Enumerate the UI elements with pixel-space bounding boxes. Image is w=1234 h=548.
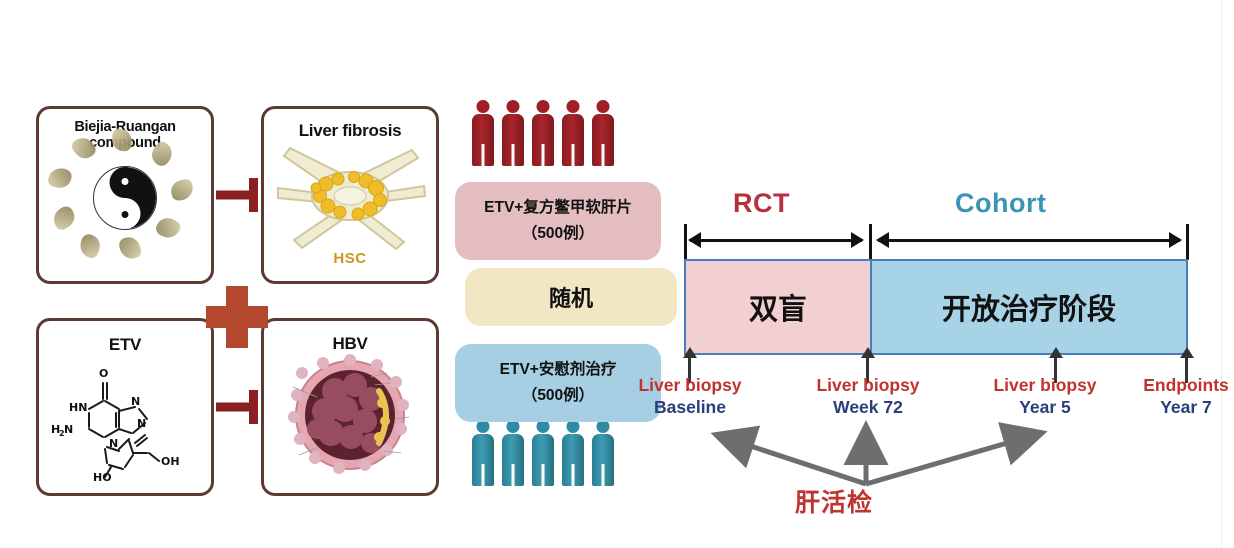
cohort-span-arrow-left — [876, 232, 889, 248]
person-icon — [502, 100, 524, 166]
panel-liver-fibrosis: Liver fibrosis HSC — [261, 106, 439, 284]
person-icon — [592, 100, 614, 166]
person-icon — [472, 420, 494, 486]
randomization-box: 随机 — [465, 268, 677, 326]
timeline-tick-mid — [869, 224, 872, 260]
timepoint-time: Year 7 — [1096, 396, 1234, 418]
cohort-span-arrow-right — [1169, 232, 1182, 248]
liver-biopsy-fan-arrows — [690, 420, 1110, 500]
svg-text:O: O — [99, 367, 108, 380]
treatment-arm-count: （500例） — [522, 221, 594, 247]
figure-canvas: Biejia-Ruangan compound Liver fibrosis — [0, 0, 1234, 548]
person-icon — [592, 420, 614, 486]
panel-hbv: HBV — [261, 318, 439, 496]
timepoint-label-week72: Liver biopsy Week 72 — [778, 374, 958, 418]
patient-group-treatment — [472, 100, 614, 166]
treatment-arm-label: ETV+复方鳖甲软肝片 — [484, 195, 632, 221]
rct-span-arrow-left — [688, 232, 701, 248]
svg-text:HO: HO — [93, 471, 112, 481]
panel-biejia-ruangan-compound: Biejia-Ruangan compound — [36, 106, 214, 284]
plus-sign-icon — [206, 286, 268, 348]
person-icon — [562, 100, 584, 166]
person-icon — [472, 100, 494, 166]
panel-etv: ETV — [36, 318, 214, 496]
timepoint-event: Liver biopsy — [778, 374, 958, 396]
panel-title-etv: ETV — [39, 335, 211, 355]
rct-span-arrow-right — [851, 232, 864, 248]
rct-span-line — [690, 239, 862, 242]
timepoint-time: Week 72 — [778, 396, 958, 418]
inhibition-t-bar-icon-bottom — [216, 390, 258, 424]
svg-text:N: N — [137, 417, 146, 430]
liver-biopsy-annotation-label: 肝活检 — [795, 483, 873, 519]
hbv-virion-icon — [275, 351, 425, 477]
timepoint-label-baseline: Liver biopsy Baseline — [600, 374, 780, 418]
timepoint-label-year7: Endpoints Year 7 — [1096, 374, 1234, 418]
patient-group-control — [472, 420, 614, 486]
phase-bar-double-blind: 双盲 — [686, 261, 872, 353]
control-arm-label: ETV+安慰剂治疗 — [500, 357, 617, 383]
svg-text:N: N — [64, 423, 73, 436]
timeline-tick-start — [684, 224, 687, 260]
page-edge-line — [1221, 0, 1222, 548]
timepoint-time: Baseline — [600, 396, 780, 418]
hepatic-stellate-cell-icon — [270, 136, 430, 254]
person-icon — [532, 420, 554, 486]
phase-heading-rct: RCT — [733, 188, 790, 219]
person-icon — [502, 420, 524, 486]
treatment-arm-box: ETV+复方鳖甲软肝片 （500例） — [455, 182, 661, 260]
svg-text:N: N — [131, 395, 140, 408]
yin-yang-herbs-icon — [50, 133, 200, 263]
person-icon — [562, 420, 584, 486]
timeline-tick-end — [1186, 224, 1189, 260]
timepoint-event: Liver biopsy — [600, 374, 780, 396]
svg-text:HN: HN — [69, 401, 87, 414]
randomization-label: 随机 — [549, 281, 593, 313]
entecavir-structure-icon: O HN N N N H 2 N OH HO — [49, 353, 201, 481]
person-icon — [532, 100, 554, 166]
timepoint-event: Endpoints — [1096, 374, 1234, 396]
inhibition-t-bar-icon-top — [216, 178, 258, 212]
svg-text:OH: OH — [161, 455, 180, 468]
phase-bar-open-label: 开放治疗阶段 — [872, 261, 1186, 353]
control-arm-count: （500例） — [522, 383, 594, 409]
hsc-sublabel: HSC — [264, 250, 436, 267]
svg-text:N: N — [109, 437, 118, 450]
cohort-span-line — [878, 239, 1180, 242]
phase-heading-cohort: Cohort — [955, 188, 1046, 219]
study-phase-bar: 双盲 开放治疗阶段 — [684, 259, 1188, 355]
